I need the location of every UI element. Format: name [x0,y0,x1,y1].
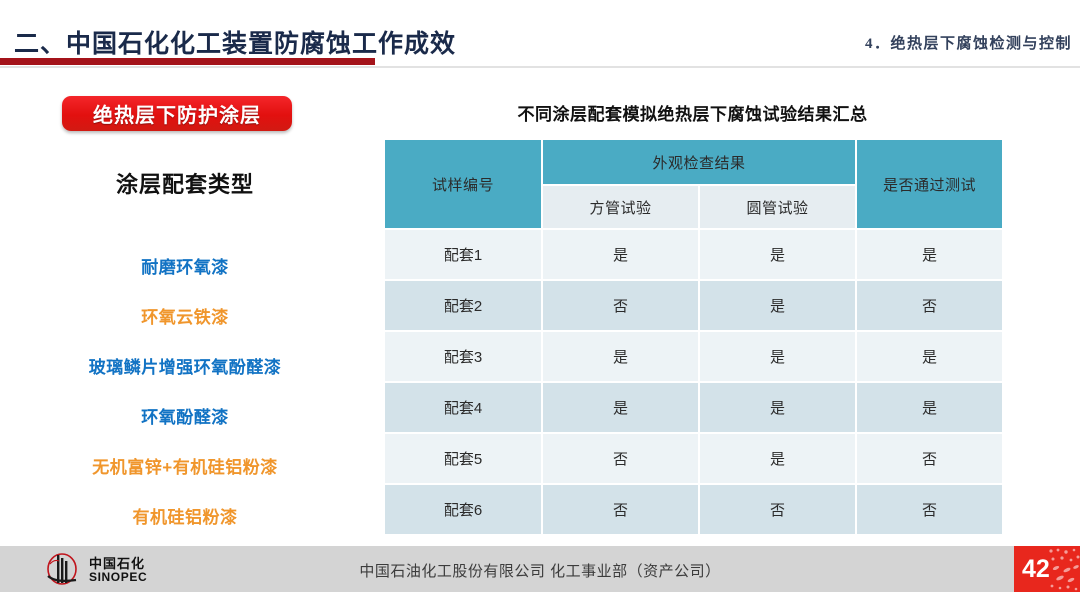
cell-square: 是 [542,229,699,280]
header-accent-bar [0,58,375,65]
list-item: 环氧云铁漆 [0,290,370,340]
section-subtitle: 4．绝热层下腐蚀检测与控制 [865,32,1072,53]
cell-square: 否 [542,433,699,484]
col-header-square-tube: 方管试验 [542,185,699,229]
cell-square: 是 [542,382,699,433]
table-row: 配套2 否 是 否 [384,280,1003,331]
coating-list: 耐磨环氧漆 环氧云铁漆 玻璃鳞片增强环氧酚醛漆 环氧酚醛漆 无机富锌+有机硅铝粉… [0,240,370,540]
page-number: 42 [1022,555,1050,584]
cell-pass: 否 [856,484,1003,535]
cell-round: 是 [699,229,856,280]
cell-round: 否 [699,484,856,535]
coating-name: 环氧酚醛漆 [141,403,229,428]
cell-round: 是 [699,433,856,484]
cell-sample: 配套5 [384,433,542,484]
table-title: 不同涂层配套模拟绝热层下腐蚀试验结果汇总 [383,100,1002,125]
col-header-round-tube: 圆管试验 [699,185,856,229]
slide-header: 二、中国石化化工装置防腐蚀工作成效 4．绝热层下腐蚀检测与控制 [0,0,1080,70]
table-row: 配套1 是 是 是 [384,229,1003,280]
topic-badge-label: 绝热层下防护涂层 [93,99,261,128]
cell-sample: 配套4 [384,382,542,433]
cell-pass: 是 [856,229,1003,280]
list-item: 环氧酚醛漆 [0,390,370,440]
dot-pattern-icon [1046,546,1080,592]
coating-name: 玻璃鳞片增强环氧酚醛漆 [89,353,282,378]
list-item: 玻璃鳞片增强环氧酚醛漆 [0,340,370,390]
cell-sample: 配套3 [384,331,542,382]
slide-root: 二、中国石化化工装置防腐蚀工作成效 4．绝热层下腐蚀检测与控制 绝热层下防护涂层… [0,0,1080,608]
table-row: 配套3 是 是 是 [384,331,1003,382]
table-row: 配套4 是 是 是 [384,382,1003,433]
table-header-row-1: 试样编号 外观检查结果 是否通过测试 [384,139,1003,185]
page-title: 二、中国石化化工装置防腐蚀工作成效 [14,24,456,60]
cell-round: 是 [699,331,856,382]
table-row: 配套5 否 是 否 [384,433,1003,484]
cell-round: 是 [699,280,856,331]
cell-pass: 是 [856,382,1003,433]
table-row: 配套6 否 否 否 [384,484,1003,535]
results-table: 试样编号 外观检查结果 是否通过测试 方管试验 圆管试验 配套1 是 是 是 配… [383,138,1004,536]
topic-badge: 绝热层下防护涂层 [62,96,292,131]
col-header-pass: 是否通过测试 [856,139,1003,229]
cell-pass: 是 [856,331,1003,382]
list-item: 有机硅铝粉漆 [0,490,370,540]
table-head: 试样编号 外观检查结果 是否通过测试 方管试验 圆管试验 [384,139,1003,229]
cell-pass: 否 [856,433,1003,484]
coating-name: 无机富锌+有机硅铝粉漆 [92,453,277,478]
list-item: 无机富锌+有机硅铝粉漆 [0,440,370,490]
cell-sample: 配套1 [384,229,542,280]
table-body: 配套1 是 是 是 配套2 否 是 否 配套3 是 是 是 配套4 是 是 [384,229,1003,535]
col-header-sample-no: 试样编号 [384,139,542,229]
list-item: 耐磨环氧漆 [0,240,370,290]
coating-column-title: 涂层配套类型 [0,167,370,199]
coating-name: 环氧云铁漆 [141,303,229,328]
cell-square: 是 [542,331,699,382]
footer-company-text: 中国石油化工股份有限公司 化工事业部（资产公司） [0,560,1080,581]
cell-square: 否 [542,484,699,535]
cell-square: 否 [542,280,699,331]
page-number-badge: 42 [1014,546,1080,592]
coating-name: 有机硅铝粉漆 [133,503,238,528]
coating-name: 耐磨环氧漆 [141,253,229,278]
cell-round: 是 [699,382,856,433]
cell-sample: 配套6 [384,484,542,535]
cell-pass: 否 [856,280,1003,331]
cell-sample: 配套2 [384,280,542,331]
col-header-appearance-group: 外观检查结果 [542,139,856,185]
header-divider [0,66,1080,68]
